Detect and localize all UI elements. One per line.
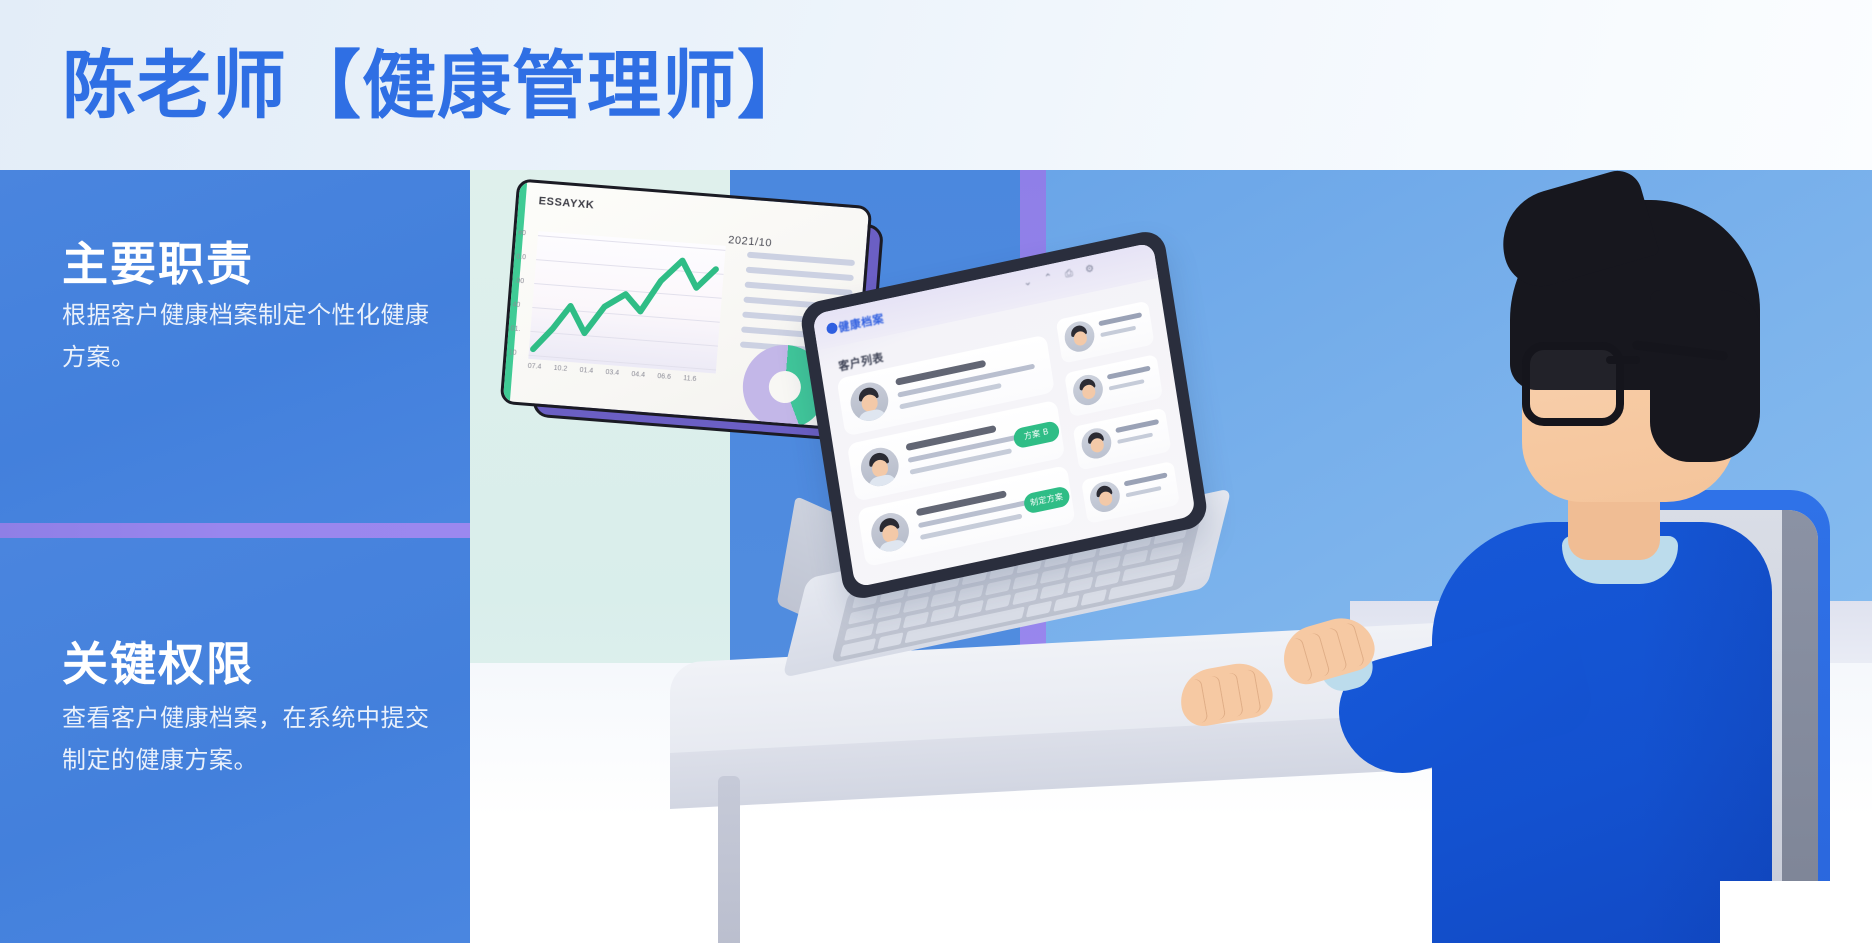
- app-brand-label: 健康档案: [837, 310, 885, 335]
- avatar: [1088, 479, 1122, 515]
- report-title: ESSAYXK: [538, 195, 595, 211]
- y-tick-0: #0: [518, 230, 526, 238]
- list-item-name: [895, 360, 986, 386]
- side-card-title: [1124, 472, 1168, 486]
- x-tick-2: 01.4: [579, 367, 593, 375]
- side-card[interactable]: [1073, 407, 1172, 470]
- list-item-detail-2: [910, 448, 1013, 475]
- report-date: 2021/10: [728, 234, 773, 249]
- report-accent-edge: [500, 178, 528, 404]
- side-card[interactable]: [1056, 301, 1155, 364]
- poster-canvas: 陈老师【健康管理师】 主要职责 根据客户健康档案制定个性化健康方案。 关键权限 …: [0, 0, 1872, 943]
- y-tick-2: .00: [514, 277, 524, 285]
- y-tick-3: 40: [512, 301, 520, 309]
- list-item-name: [916, 490, 1007, 516]
- report-line-chart: #0 0.0 .00 40 01. 10 07.4 10.2 01.4 03.4…: [528, 231, 725, 373]
- illustration-scene: ESSAYXK 2021/10 #0 0.0 .00 40 01. 10: [470, 170, 1872, 943]
- x-tick-0: 07.4: [527, 363, 541, 371]
- section-key-permissions: 关键权限 查看客户健康档案，在系统中提交制定的健康方案。: [0, 538, 470, 943]
- side-card-title: [1107, 366, 1151, 380]
- submit-plan-button[interactable]: 制定方案: [1023, 485, 1071, 514]
- person-torso-shading: [1640, 522, 1772, 943]
- section-heading-main-duties: 主要职责: [62, 228, 254, 294]
- y-tick-1: 0.0: [516, 254, 526, 262]
- x-tick-6: 11.6: [683, 375, 697, 383]
- section-body-main-duties: 根据客户健康档案制定个性化健康方案。: [62, 295, 452, 379]
- side-card[interactable]: [1081, 461, 1180, 524]
- corner-notch: [1720, 881, 1872, 943]
- line-chart-path: [528, 231, 725, 373]
- side-card[interactable]: [1064, 354, 1163, 417]
- side-card-subtitle: [1117, 433, 1153, 444]
- avatar: [858, 444, 901, 489]
- section-main-duties: 主要职责 根据客户健康档案制定个性化健康方案。: [0, 170, 470, 523]
- left-info-column: 主要职责 根据客户健康档案制定个性化健康方案。 关键权限 查看客户健康档案，在系…: [0, 170, 470, 943]
- x-tick-3: 03.4: [605, 369, 619, 377]
- list-item-name: [905, 425, 996, 451]
- person-hand-left: [1176, 658, 1276, 729]
- glasses-icon: [1522, 342, 1624, 426]
- list-item-detail-2: [899, 383, 1002, 410]
- section-heading-key-permissions: 关键权限: [62, 628, 254, 694]
- y-tick-4: 01.: [510, 325, 520, 333]
- person-illustration: [1170, 170, 1872, 943]
- avatar: [1079, 425, 1113, 461]
- avatar: [1071, 372, 1105, 408]
- side-card-subtitle: [1100, 326, 1136, 337]
- side-card-subtitle: [1126, 486, 1162, 497]
- header-band: 陈老师【健康管理师】: [0, 0, 1872, 170]
- person-hair-side: [1650, 290, 1760, 462]
- desk-leg: [718, 776, 740, 943]
- x-tick-1: 10.2: [553, 365, 567, 373]
- page-title: 陈老师【健康管理师】: [62, 40, 812, 132]
- list-item-detail-2: [920, 513, 1023, 540]
- side-card-title: [1115, 419, 1159, 433]
- chair-cushion-edge: [1782, 510, 1818, 940]
- avatar: [1063, 319, 1097, 355]
- laptop-screen-content: 健康档案 ⌄ ⌃ ⎙ ⚙ 客户列表: [812, 242, 1196, 587]
- toolbar-icons[interactable]: ⌄ ⌃ ⎙ ⚙: [1023, 262, 1100, 289]
- glasses-bridge: [1606, 356, 1640, 364]
- section-body-key-permissions: 查看客户健康档案，在系统中提交制定的健康方案。: [62, 698, 452, 782]
- side-card-subtitle: [1109, 379, 1145, 390]
- x-tick-4: 04.4: [631, 371, 645, 379]
- avatar: [848, 379, 891, 424]
- section-divider: [0, 523, 470, 538]
- x-tick-5: 06.6: [657, 373, 671, 381]
- y-tick-5: 10: [508, 349, 516, 357]
- plan-button[interactable]: 方案 B: [1012, 420, 1060, 449]
- avatar: [869, 509, 912, 554]
- app-logo-icon: [826, 322, 838, 335]
- side-card-title: [1098, 312, 1142, 326]
